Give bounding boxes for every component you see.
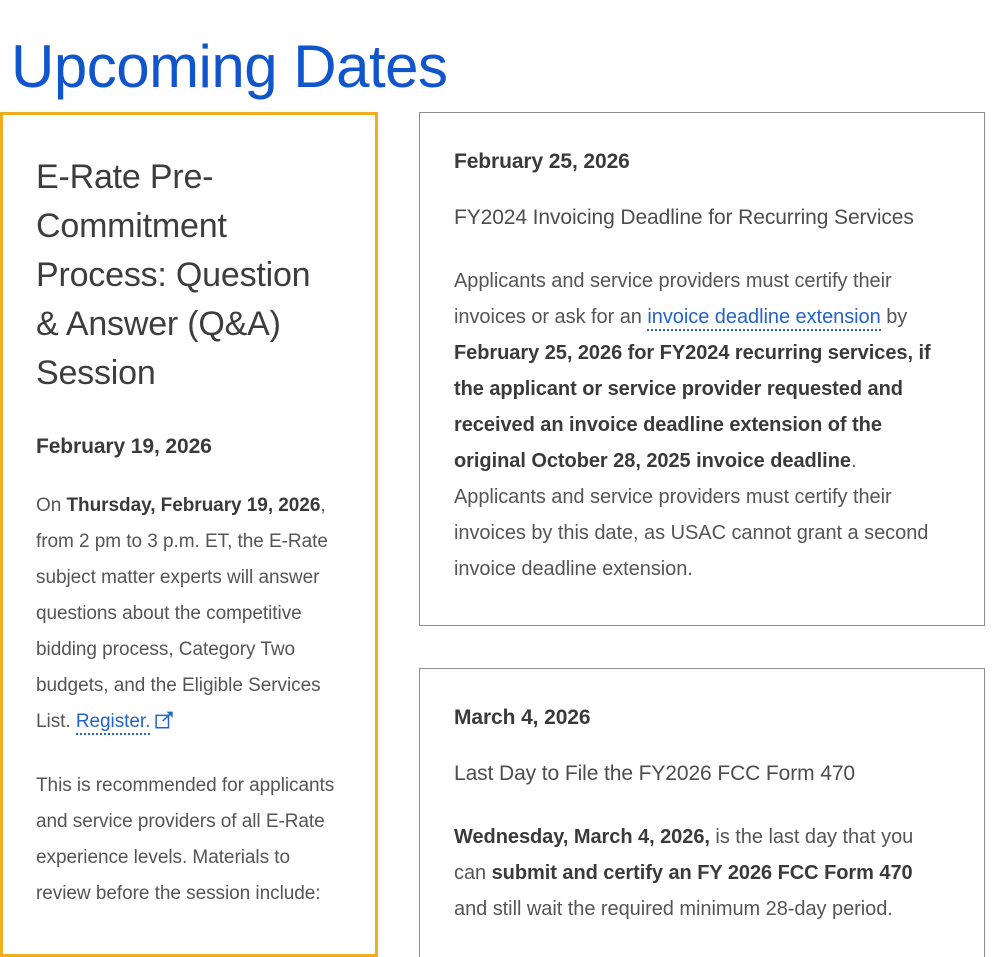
featured-card-title: E-Rate Pre-Commitment Process: Question … [36, 153, 341, 398]
page-title: Upcoming Dates [11, 32, 448, 103]
deadlines-column: February 25, 2026 FY2024 Invoicing Deadl… [419, 112, 985, 957]
featured-card-paragraph-2: This is recommended for applicants and s… [36, 768, 341, 912]
body-part-2: by [881, 306, 908, 328]
deadline-card-body: Wednesday, March 4, 2026, is the last da… [454, 819, 949, 927]
dates-columns: E-Rate Pre-Commitment Process: Question … [0, 112, 1000, 957]
paragraph-bold-date: Thursday, February 19, 2026 [66, 495, 320, 516]
body-part-2: and still wait the required minimum 28-d… [454, 898, 893, 920]
deadline-card-subtitle: FY2024 Invoicing Deadline for Recurring … [454, 203, 949, 233]
deadline-card: February 25, 2026 FY2024 Invoicing Deadl… [419, 112, 985, 626]
deadline-card-date: February 25, 2026 [454, 147, 949, 177]
featured-card-paragraph-1: On Thursday, February 19, 2026, from 2 p… [36, 488, 341, 740]
featured-event-card: E-Rate Pre-Commitment Process: Question … [0, 112, 378, 957]
paragraph-lead-text: On [36, 495, 66, 516]
deadline-card-subtitle: Last Day to File the FY2026 FCC Form 470 [454, 759, 949, 789]
body-bold-emphasis: February 25, 2026 for FY2024 recurring s… [454, 342, 931, 472]
invoice-deadline-extension-link[interactable]: invoice deadline extension [647, 306, 880, 331]
deadline-card-body: Applicants and service providers must ce… [454, 263, 949, 587]
featured-card-date: February 19, 2026 [36, 432, 341, 462]
body-bold-date: Wednesday, March 4, 2026, [454, 826, 710, 848]
featured-column: E-Rate Pre-Commitment Process: Question … [0, 112, 378, 957]
deadline-card-date: March 4, 2026 [454, 703, 949, 733]
register-link[interactable]: Register. [76, 711, 151, 735]
deadline-card: March 4, 2026 Last Day to File the FY202… [419, 668, 985, 957]
external-link-icon[interactable] [155, 711, 174, 730]
paragraph-tail-text: , from 2 pm to 3 p.m. ET, the E-Rate sub… [36, 495, 328, 732]
body-bold-action: submit and certify an FY 2026 FCC Form 4… [492, 862, 913, 884]
page-root: Upcoming Dates E-Rate Pre-Commitment Pro… [0, 0, 1000, 957]
